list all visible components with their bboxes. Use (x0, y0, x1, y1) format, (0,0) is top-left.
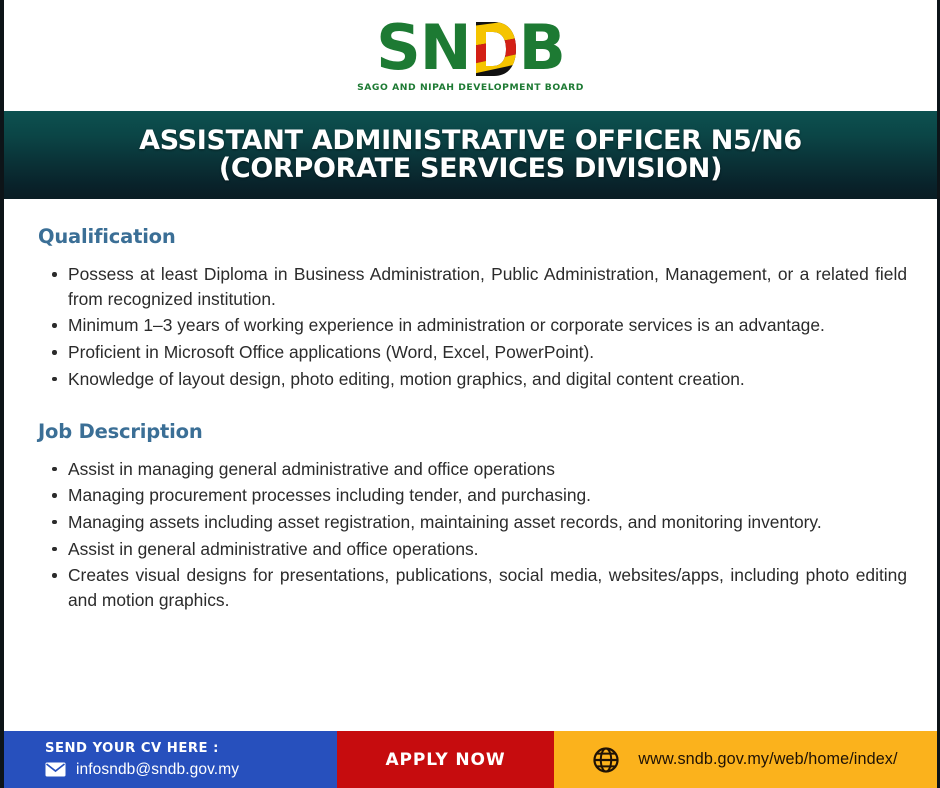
cv-email-address[interactable]: infosndb@sndb.gov.my (76, 761, 239, 779)
logo-letter-d-icon (472, 20, 518, 78)
logo-tagline: SAGO AND NIPAH DEVELOPMENT BOARD (357, 83, 584, 92)
list-item: Managing procurement processes including… (38, 483, 907, 508)
website-url[interactable]: www.sndb.gov.my/web/home/index/ (638, 750, 897, 769)
section-spacer (38, 398, 907, 420)
poster-body: Qualification Possess at least Diploma i… (4, 199, 937, 731)
job-description-list: Assist in managing general administrativ… (38, 457, 907, 613)
job-title-line-2: (CORPORATE SERVICES DIVISION) (139, 155, 802, 183)
job-title: ASSISTANT ADMINISTRATIVE OFFICER N5/N6 (… (139, 127, 802, 182)
list-item: Assist in general administrative and off… (38, 537, 907, 562)
email-row: infosndb@sndb.gov.my (45, 761, 337, 779)
send-cv-panel: SEND YOUR CV HERE : infosndb@sndb.gov.my (4, 731, 337, 788)
qualification-heading: Qualification (38, 225, 907, 248)
logo-letter-s: S (376, 19, 420, 78)
list-item: Creates visual designs for presentations… (38, 563, 907, 612)
job-description-heading: Job Description (38, 420, 907, 443)
job-title-banner: ASSISTANT ADMINISTRATIVE OFFICER N5/N6 (… (4, 111, 937, 199)
logo-letter-b: B (519, 19, 565, 78)
list-item: Possess at least Diploma in Business Adm… (38, 262, 907, 311)
poster-footer: SEND YOUR CV HERE : infosndb@sndb.gov.my… (4, 731, 937, 788)
send-cv-label: SEND YOUR CV HERE : (45, 741, 337, 756)
list-item: Minimum 1–3 years of working experience … (38, 313, 907, 338)
list-item: Assist in managing general administrativ… (38, 457, 907, 482)
envelope-icon (45, 762, 66, 777)
list-item: Managing assets including asset registra… (38, 510, 907, 535)
list-item: Knowledge of layout design, photo editin… (38, 367, 907, 392)
globe-icon (593, 747, 619, 773)
logo-letter-n: N (420, 19, 471, 78)
sndb-logo: S N (357, 19, 584, 92)
qualification-section: Qualification Possess at least Diploma i… (38, 225, 907, 392)
job-advertisement-poster: S N (0, 0, 940, 788)
job-description-section: Job Description Assist in managing gener… (38, 420, 907, 613)
job-title-line-1: ASSISTANT ADMINISTRATIVE OFFICER N5/N6 (139, 125, 802, 156)
list-item: Proficient in Microsoft Office applicati… (38, 340, 907, 365)
logo-band: S N (4, 0, 937, 111)
website-panel: www.sndb.gov.my/web/home/index/ (554, 731, 937, 788)
qualification-list: Possess at least Diploma in Business Adm… (38, 262, 907, 392)
apply-now-button[interactable]: APPLY NOW (337, 731, 554, 788)
apply-now-label: APPLY NOW (385, 750, 505, 770)
logo-lettermark: S N (376, 19, 565, 78)
